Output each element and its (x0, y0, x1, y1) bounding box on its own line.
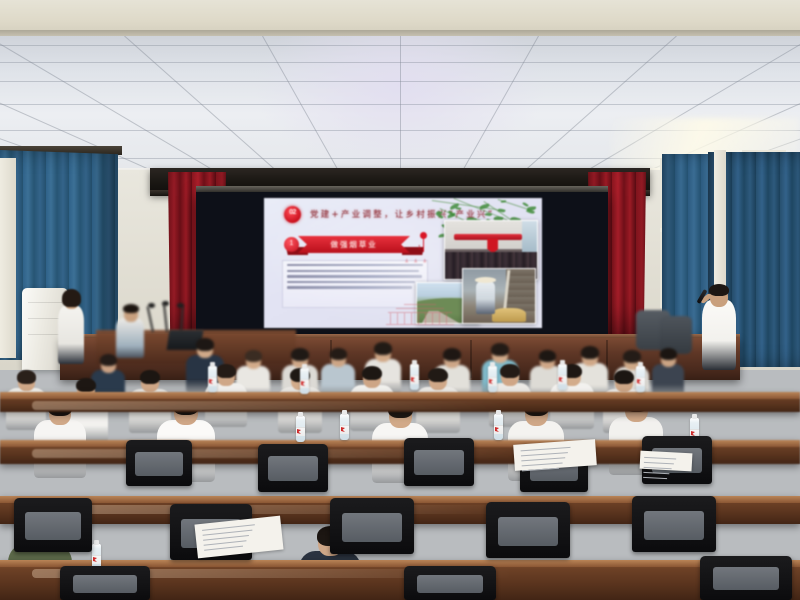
speaker-torso (702, 300, 736, 370)
conference-hall-photo: 02 党建+产业调整，让乡村振兴“产业兴” 做强烟草业 1 1 ★ ★ ★ (0, 0, 800, 600)
map-pin-icon: 1 (418, 232, 428, 254)
side-curtain-right-inner (662, 154, 708, 339)
person-hair (374, 342, 392, 355)
person-hair (491, 343, 509, 356)
person-hair (245, 350, 262, 362)
person-hair (428, 368, 448, 382)
person-hair (660, 348, 677, 360)
assistant-torso (58, 306, 84, 364)
assistant-hair (62, 289, 81, 307)
ribbon-index-badge: 1 (284, 237, 299, 252)
microphone-head-c (177, 303, 184, 308)
slide-body-text (282, 260, 428, 308)
person-hair (500, 364, 520, 378)
projected-slide: 02 党建+产业调整，让乡村振兴“产业兴” 做强烟草业 1 1 ★ ★ ★ (264, 198, 542, 328)
water-bottle (558, 364, 567, 390)
speaker-hair (709, 284, 729, 296)
person-hair (539, 350, 556, 362)
person-hair (614, 370, 634, 384)
water-bottle (488, 366, 497, 392)
person-hair (76, 378, 96, 392)
slide-body-line (287, 264, 423, 266)
audience-chair (258, 444, 328, 492)
person-hair (362, 366, 382, 380)
person-hair (216, 364, 236, 378)
slide-body-line (287, 275, 422, 277)
slide-footer-graphic (382, 304, 458, 326)
person-hair (330, 348, 347, 360)
water-bottle (296, 416, 305, 442)
person-hair (291, 348, 309, 361)
slide-emblem-icon: 02 (284, 206, 301, 223)
person-hair (623, 350, 641, 363)
slide-body-line (287, 281, 415, 283)
pin-label: 1 (418, 245, 421, 251)
person-hair (443, 348, 461, 361)
microphone-head-b (162, 301, 169, 306)
water-bottle (636, 366, 645, 392)
person-hair (17, 370, 36, 384)
wall-pillar-left (0, 158, 16, 358)
water-bottle (208, 366, 217, 392)
ribbon-label: 做强烟草业 (298, 236, 410, 253)
conference-desk (0, 392, 800, 412)
water-bottle (300, 368, 309, 394)
microphone-head-a (148, 303, 155, 308)
audience-chair (404, 566, 496, 600)
water-bottle (410, 364, 419, 390)
host-hair (123, 304, 139, 313)
emblem-number: 02 (284, 209, 301, 216)
audience-chair (486, 502, 570, 558)
slide-body-line (287, 286, 412, 288)
audience-chair (700, 556, 792, 600)
person-torso (652, 364, 684, 396)
host-torso (116, 318, 144, 358)
audience-chair (14, 498, 92, 552)
water-bottle (340, 414, 349, 440)
person-hair (100, 354, 117, 366)
slide-section-ribbon: 做强烟草业 1 (284, 236, 424, 253)
document-papers (640, 451, 693, 472)
water-bottle (494, 414, 503, 440)
audience-chair (632, 496, 716, 552)
audience-chair (126, 440, 192, 486)
ribbon-index: 1 (284, 240, 299, 247)
audience-chair (330, 498, 414, 554)
person-hair (196, 338, 214, 351)
person-hair (140, 370, 160, 384)
person-hair (581, 346, 599, 359)
slide-body-line (287, 270, 419, 272)
slide-photo-worker (462, 268, 536, 324)
audience-chair (60, 566, 150, 600)
audience-chair (404, 438, 474, 486)
